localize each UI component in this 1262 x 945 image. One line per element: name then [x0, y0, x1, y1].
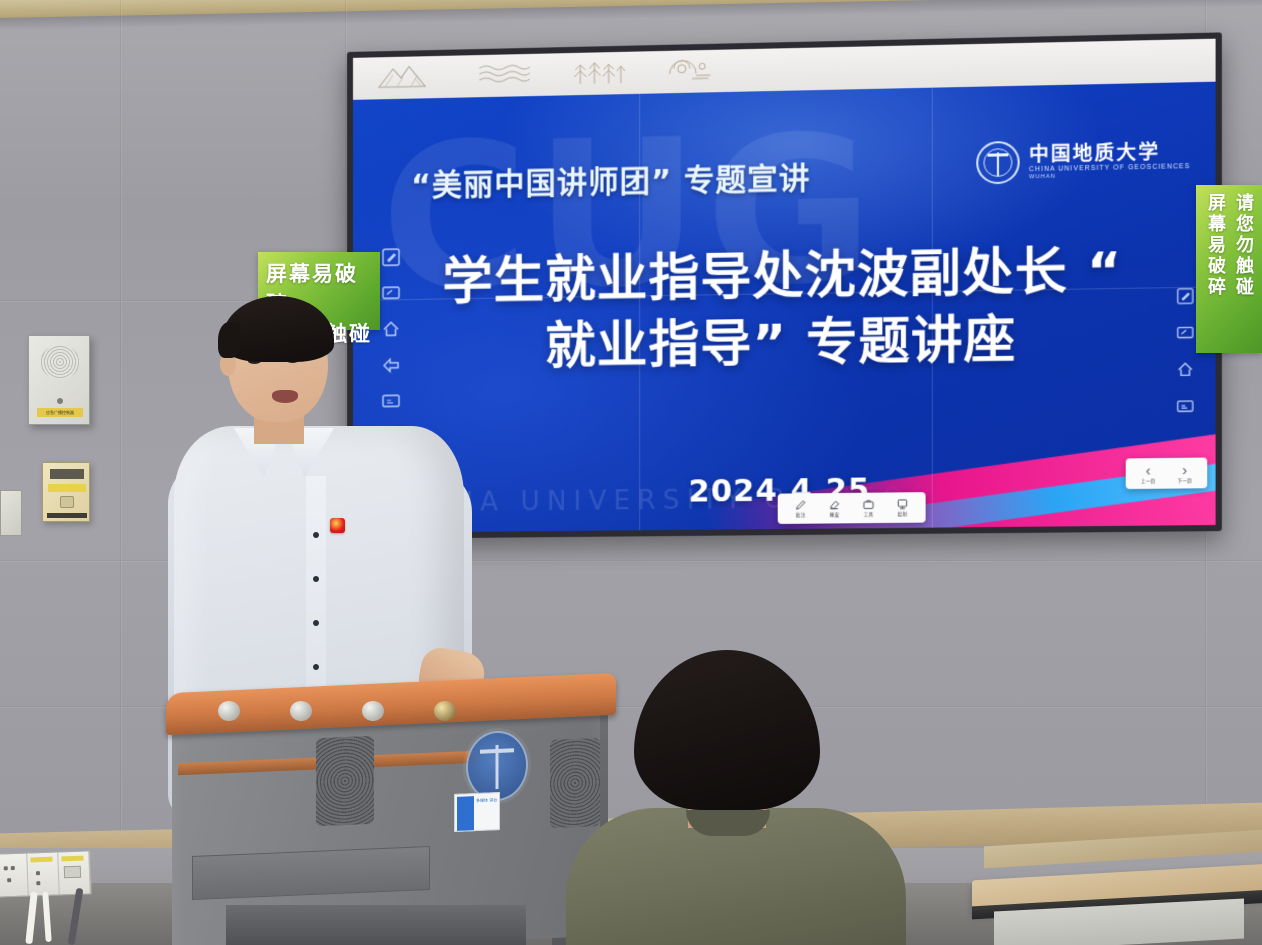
fire-alarm-call-point[interactable]: [42, 462, 90, 522]
podium-control-knob[interactable]: [218, 701, 240, 721]
annotation-toolbar[interactable]: 批注 橡皮 工具 投射: [778, 492, 926, 524]
presenter-hair: [222, 296, 334, 362]
chevron-right-icon: ›: [1182, 462, 1187, 477]
next-page-button[interactable]: › 下一页: [1166, 462, 1203, 484]
display-window: [50, 469, 84, 479]
toolbox-icon: [862, 498, 875, 511]
forest-trees-icon: [570, 58, 629, 85]
toolbar-label-cast: 投射: [898, 512, 908, 518]
wall-conduit-box: [0, 490, 22, 536]
page-nav-right[interactable]: ‹ 上一页 › 下一页: [1126, 458, 1207, 490]
toolbar-button-eraser[interactable]: 橡皮: [818, 498, 852, 519]
prev-page-label: 上一页: [1141, 478, 1156, 484]
eraser-icon: [828, 498, 841, 511]
podium-control-knob[interactable]: [290, 701, 312, 721]
led-video-wall[interactable]: CUG CHINA UNIVERSITY OF GEOSCIENCES “美丽中…: [347, 32, 1222, 539]
home-icon[interactable]: [1176, 360, 1197, 381]
slide-title: 学生就业指导处沈波副处长 “ 就业指导” 专题讲座: [353, 235, 1216, 382]
wall-speaker-label: 应急广播控制器: [37, 408, 83, 417]
university-name-cn: 中国地质大学: [1029, 140, 1190, 166]
alarm-footer: [47, 513, 87, 518]
pen-icon: [794, 498, 807, 511]
prev-page-button[interactable]: ‹ 上一页: [1130, 463, 1167, 485]
speaker-grill-icon: [40, 345, 80, 379]
toolbar-label-annotate: 批注: [796, 513, 806, 519]
toolbar-button-cast[interactable]: 投射: [885, 497, 919, 518]
fire-alarm-label-strip: [48, 484, 86, 492]
audience-member: [538, 650, 938, 945]
sun-cloud-icon: [668, 57, 715, 82]
alarm-button[interactable]: [60, 496, 74, 508]
audience-head: [634, 650, 820, 810]
screen-side-rail-right[interactable]: [1176, 287, 1197, 418]
podium-base: [226, 905, 526, 945]
mountain-icon: [377, 62, 439, 89]
podium-power-knob[interactable]: [434, 701, 456, 721]
note-edit-icon[interactable]: [1176, 287, 1197, 308]
warning-sign-right-col2: 屏幕易破碎: [1202, 193, 1228, 345]
university-logo: 中国地质大学 CHINA UNIVERSITY OF GEOSCIENCES W…: [976, 137, 1190, 184]
power-socket[interactable]: [0, 854, 29, 897]
podium-speaker-grill-left: [316, 736, 374, 826]
presenter-mouth: [272, 390, 298, 403]
slide-canvas: CUG CHINA UNIVERSITY OF GEOSCIENCES “美丽中…: [353, 82, 1216, 533]
note-edit-icon[interactable]: [381, 247, 401, 267]
water-waves-icon: [477, 62, 531, 85]
podium-control-knob[interactable]: [362, 701, 384, 721]
audience-collar: [686, 810, 770, 836]
beautiful-china-motif-icons: [377, 56, 714, 89]
toolbar-label-eraser: 橡皮: [830, 512, 840, 518]
av-socket[interactable]: [27, 852, 59, 895]
panel-seam: [639, 94, 640, 530]
sticker-blue-block: [457, 796, 474, 831]
network-socket[interactable]: [58, 851, 90, 894]
status-led: [57, 398, 63, 404]
podium-info-sticker: 多媒体 讲台: [454, 792, 500, 832]
next-page-label: 下一页: [1177, 478, 1192, 484]
whiteboard-icon[interactable]: [1176, 324, 1197, 345]
pc-source-icon[interactable]: [1176, 397, 1197, 418]
toolbar-button-tools[interactable]: 工具: [852, 498, 886, 519]
cast-icon: [896, 497, 909, 510]
university-name-block: 中国地质大学 CHINA UNIVERSITY OF GEOSCIENCES W…: [1029, 140, 1190, 180]
toolbar-button-annotate[interactable]: 批注: [784, 498, 818, 519]
slide-title-line1: 学生就业指导处沈波副处长 “: [443, 241, 1123, 311]
cug-seal-icon: [976, 141, 1019, 185]
chevron-left-icon: ‹: [1146, 463, 1151, 478]
emergency-broadcast-speaker: 应急广播控制器: [28, 335, 90, 425]
toolbar-label-tools: 工具: [864, 512, 874, 518]
slide-title-line2: 就业指导” 专题讲座: [353, 303, 1216, 382]
warning-sign-right: 请您勿触碰 屏幕易破碎: [1196, 185, 1262, 353]
wall-seam: [120, 0, 122, 945]
slide-kicker-text: “美丽中国讲师团” 专题宣讲: [411, 153, 810, 205]
lecture-hall-photo: 应急广播控制器: [0, 0, 1262, 945]
party-emblem-pin: [330, 518, 345, 533]
panel-seam: [932, 88, 933, 528]
podium-sticker-text: 多媒体 讲台: [476, 797, 497, 804]
warning-sign-right-col1: 请您勿触碰: [1230, 193, 1256, 345]
